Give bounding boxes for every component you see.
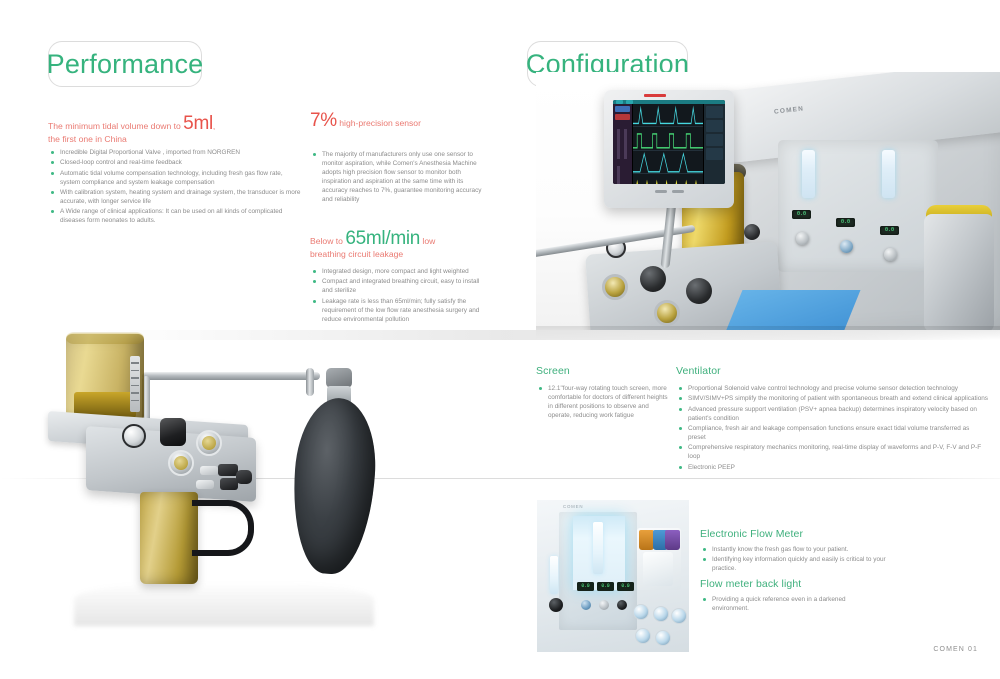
connector-black bbox=[236, 470, 252, 484]
page-footer: COMEN 01 bbox=[933, 646, 978, 653]
support-arm-drop bbox=[306, 368, 314, 396]
list-item: Leakage rate is less than 65ml/min; full… bbox=[312, 297, 487, 324]
list-item: The majority of manufacturers only use o… bbox=[312, 150, 484, 205]
performance-block1-heading: The minimum tidal volume down to 5ml, th… bbox=[48, 117, 298, 146]
flow-led-display: 0.0 bbox=[880, 226, 899, 235]
performance-block3-heading: Below to 65ml/min low breathing circuit … bbox=[310, 232, 505, 261]
monitor-tile bbox=[615, 114, 630, 120]
performance-block2-list: The majority of manufacturers only use o… bbox=[312, 150, 484, 206]
list-item: Comprehensive respiratory mechanics moni… bbox=[678, 443, 988, 461]
list-item: Compact and integrated breathing circuit… bbox=[312, 277, 487, 295]
flow-meter-photo: COMEN 0.0 0.0 0.0 bbox=[537, 500, 689, 652]
list-item: Instantly know the fresh gas flow to you… bbox=[702, 545, 892, 554]
performance-block3-list: Integrated design, more compact and ligh… bbox=[312, 267, 487, 325]
canister-handle bbox=[192, 500, 254, 556]
vaporizer-bottle bbox=[665, 530, 680, 550]
back-light-heading: Flow meter back light bbox=[700, 578, 801, 590]
monitor-value-tile bbox=[706, 120, 723, 132]
block1-lead-post: , bbox=[213, 121, 215, 131]
photo-reflection bbox=[74, 582, 374, 626]
block1-lead-line2: the first one in China bbox=[48, 134, 127, 144]
list-item: Electronic PEEP bbox=[678, 463, 988, 472]
control-knob bbox=[640, 266, 666, 292]
monitor-hard-keys bbox=[613, 190, 725, 193]
list-item: Compliance, fresh air and leakage compen… bbox=[678, 424, 988, 442]
monitor-right-panel bbox=[703, 104, 725, 184]
flow-control-knob bbox=[617, 600, 627, 610]
check-valve bbox=[196, 430, 222, 456]
list-item: Providing a quick reference even in a da… bbox=[702, 595, 882, 613]
list-item: Advanced pressure support ventilation (P… bbox=[678, 405, 988, 423]
flow-knob bbox=[796, 232, 809, 245]
flow-meter-heading: Electronic Flow Meter bbox=[700, 528, 803, 540]
block3-lead-value: 65ml/min bbox=[345, 228, 420, 249]
block2-lead-post: high-precision sensor bbox=[337, 118, 421, 128]
section-title-performance: Performance bbox=[48, 41, 202, 87]
machine-flowmeter-panel: 0.0 0.0 0.0 bbox=[778, 140, 938, 272]
flow-led-display: 0.0 bbox=[836, 218, 855, 227]
breathing-bag bbox=[288, 395, 380, 576]
flow-tube bbox=[550, 556, 558, 594]
monitor-left-panel bbox=[613, 104, 633, 184]
breathing-circuit-photo bbox=[44, 332, 389, 632]
vaporizer-bank bbox=[637, 528, 681, 590]
gas-outlet-bank bbox=[633, 604, 687, 648]
waveform-yellow bbox=[633, 174, 703, 184]
patient-monitor bbox=[604, 90, 734, 208]
flow-tube bbox=[593, 522, 603, 574]
vaporizer-body bbox=[643, 552, 673, 586]
performance-block1-list: Incredible Digital Proportional Valve , … bbox=[50, 148, 302, 227]
bellows-housing-lid bbox=[66, 332, 144, 344]
monitor-value-tile bbox=[706, 148, 723, 160]
connector-white bbox=[200, 466, 218, 475]
monitor-bar bbox=[617, 166, 620, 184]
monitor-key bbox=[655, 190, 667, 193]
screen-list: 12.1"four-way rotating touch screen, mor… bbox=[538, 384, 670, 422]
flow-led-display: 0.0 bbox=[597, 582, 614, 591]
list-item: Integrated design, more compact and ligh… bbox=[312, 267, 487, 276]
flow-knob bbox=[840, 240, 853, 253]
flow-meter-list: Instantly know the fresh gas flow to you… bbox=[702, 545, 892, 575]
flowmeter-brand-label: COMEN bbox=[563, 504, 583, 509]
monitor-value-tile bbox=[706, 134, 723, 146]
block1-lead-value: 5ml bbox=[183, 113, 213, 134]
monitor-logo bbox=[644, 94, 666, 97]
volume-scale bbox=[130, 356, 140, 412]
flow-control-knob bbox=[581, 600, 591, 610]
block3-lead-pre: Below to bbox=[310, 236, 345, 246]
gas-port bbox=[654, 300, 680, 326]
list-item: Automatic tidal volume compensation tech… bbox=[50, 169, 302, 187]
gas-port bbox=[602, 274, 628, 300]
gas-outlet bbox=[653, 606, 669, 622]
list-item: Incredible Digital Proportional Valve , … bbox=[50, 148, 302, 157]
flow-led-display: 0.0 bbox=[792, 210, 811, 219]
list-item: A Wide range of clinical applications: I… bbox=[50, 207, 302, 225]
waveform-green bbox=[633, 127, 703, 150]
gas-outlet bbox=[635, 628, 651, 644]
monitor-waveform-area bbox=[633, 104, 703, 184]
performance-block2-heading: 7% high-precision sensor bbox=[310, 114, 500, 130]
airway-pressure-gauge bbox=[122, 424, 146, 448]
flow-led-display: 0.0 bbox=[577, 582, 594, 591]
list-item: SIMV/SIMV+PS simplify the monitoring of … bbox=[678, 394, 988, 403]
block3-lead-line2: breathing circuit leakage bbox=[310, 249, 403, 259]
flow-control-knob bbox=[599, 600, 609, 610]
performance-title-text: Performance bbox=[47, 49, 204, 80]
block1-lead-pre: The minimum tidal volume down to bbox=[48, 121, 183, 131]
waveform-cyan-2 bbox=[633, 151, 703, 174]
connector-white bbox=[196, 480, 214, 489]
vaporizer-bottle bbox=[639, 530, 654, 550]
flow-led-display: 0.0 bbox=[617, 582, 634, 591]
check-valve bbox=[168, 450, 194, 476]
brochure-page: Performance Configuration The minimum ti… bbox=[0, 0, 1000, 679]
co2-absorber-canister bbox=[140, 492, 198, 584]
monitor-content bbox=[613, 104, 725, 184]
screen-heading: Screen bbox=[536, 365, 570, 377]
control-knob bbox=[686, 278, 712, 304]
flow-knob bbox=[884, 248, 897, 261]
absorber-canister bbox=[924, 214, 994, 330]
gas-outlet bbox=[671, 608, 687, 624]
flow-control-knob bbox=[549, 598, 563, 612]
monitor-tile bbox=[615, 106, 630, 112]
anesthesia-machine-photo: COMEN 0.0 0.0 0.0 bbox=[536, 72, 1000, 330]
block3-lead-post: low bbox=[420, 236, 435, 246]
ventilator-list: Proportional Solenoid valve control tech… bbox=[678, 384, 988, 473]
gas-outlet bbox=[633, 604, 649, 620]
flow-tube bbox=[882, 150, 895, 198]
hose-connectors bbox=[194, 462, 254, 500]
list-item: With calibration system, heating system … bbox=[50, 188, 302, 206]
waveform-cyan bbox=[633, 104, 703, 127]
list-item: 12.1"four-way rotating touch screen, mor… bbox=[538, 384, 670, 420]
block2-lead-value: 7% bbox=[310, 110, 337, 131]
apl-valve-knob bbox=[160, 418, 186, 446]
monitor-screen bbox=[613, 100, 725, 184]
monitor-key bbox=[672, 190, 684, 193]
list-item: Identifying key information quickly and … bbox=[702, 555, 892, 573]
blue-drawer-front bbox=[721, 290, 860, 330]
connector-black bbox=[218, 464, 238, 476]
monitor-bar bbox=[617, 129, 620, 159]
monitor-value-tile bbox=[706, 106, 723, 118]
back-light-list: Providing a quick reference even in a da… bbox=[702, 595, 882, 614]
ventilator-heading: Ventilator bbox=[676, 365, 721, 377]
support-arm-horizontal bbox=[142, 372, 320, 380]
list-item: Closed-loop control and real-time feedba… bbox=[50, 158, 302, 167]
arm-end-cap bbox=[326, 368, 352, 388]
monitor-bar bbox=[624, 129, 627, 159]
list-item: Proportional Solenoid valve control tech… bbox=[678, 384, 988, 393]
flow-tube bbox=[802, 150, 815, 198]
gas-outlet bbox=[655, 630, 671, 646]
control-knob bbox=[744, 224, 760, 240]
